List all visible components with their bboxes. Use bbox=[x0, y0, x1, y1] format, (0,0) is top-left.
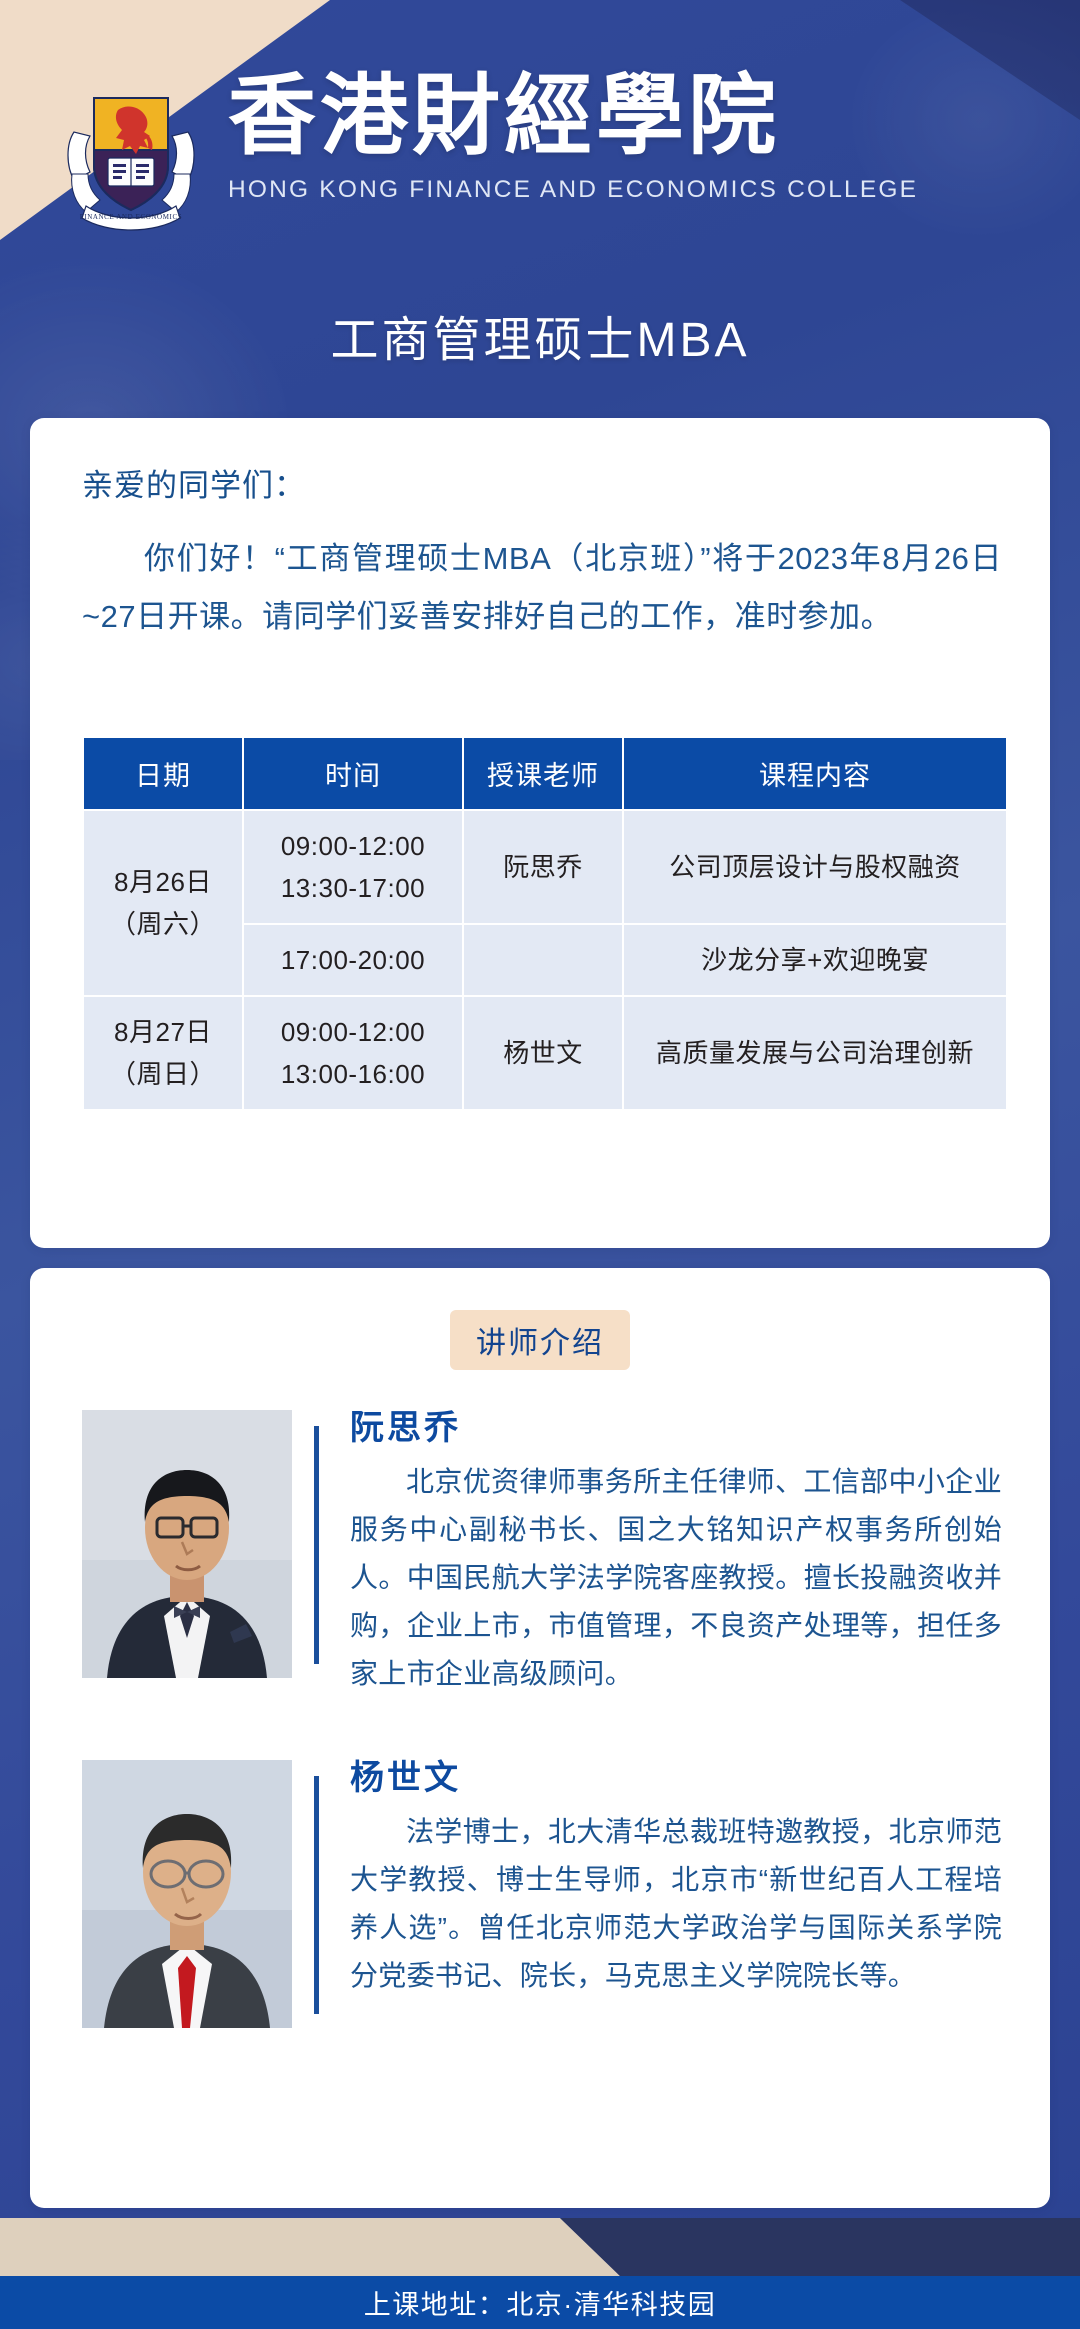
avatar bbox=[82, 1410, 292, 1678]
teacher-bio: 北京优资律师事务所主任律师、工信部中小企业服务中心副秘书长、国之大铭知识产权事务… bbox=[350, 1458, 1002, 1698]
salutation: 亲爱的同学们： bbox=[82, 460, 306, 505]
schedule-col-content: 课程内容 bbox=[624, 738, 1006, 809]
cell-teacher: 杨世文 bbox=[464, 997, 622, 1109]
teacher-entry: 杨世文 法学博士，北大清华总裁班特邀教授，北京师范大学教授、博士生导师，北京市“… bbox=[82, 1746, 1002, 2076]
avatar bbox=[82, 1760, 292, 2028]
teacher-name: 杨世文 bbox=[350, 1750, 461, 1799]
cell-date: 8月27日 （周日） bbox=[84, 997, 242, 1109]
table-row: 8月27日 （周日） 09:00-12:00 13:00-16:00 杨世文 高… bbox=[84, 997, 1006, 1109]
cell-content: 公司顶层设计与股权融资 bbox=[624, 811, 1006, 923]
school-name-cn: 香港財經學院 bbox=[228, 72, 918, 160]
schedule-col-teacher: 授课老师 bbox=[464, 738, 622, 809]
cell-date: 8月26日 （周六） bbox=[84, 811, 242, 995]
cell-time: 17:00-20:00 bbox=[244, 925, 462, 995]
cell-content: 沙龙分享+欢迎晚宴 bbox=[624, 925, 1006, 995]
footer-address-bar: 上课地址：北京·清华科技园 bbox=[0, 2276, 1080, 2329]
table-row: 8月26日 （周六） 09:00-12:00 13:30-17:00 阮思乔 公… bbox=[84, 811, 1006, 923]
teacher-name: 阮思乔 bbox=[350, 1400, 461, 1449]
cell-teacher bbox=[464, 925, 622, 995]
notice-card: 亲爱的同学们： 你们好！“工商管理硕士MBA（北京班）”将于2023年8月26日… bbox=[30, 418, 1050, 1248]
notice-paragraph: 你们好！“工商管理硕士MBA（北京班）”将于2023年8月26日~27日开课。请… bbox=[82, 530, 1002, 646]
school-name-block: 香港財經學院 HONG KONG FINANCE AND ECONOMICS C… bbox=[228, 62, 918, 204]
section-badge-teachers: 讲师介绍 bbox=[450, 1310, 630, 1370]
teachers-card: 讲师介绍 bbox=[30, 1268, 1050, 2208]
schedule-header-row: 日期 时间 授课老师 课程内容 bbox=[84, 738, 1006, 809]
footer-address-text: 上课地址：北京·清华科技园 bbox=[364, 2283, 717, 2322]
poster-root: FINANCE AND ECONOMICS 香港財經學院 HONG KONG F… bbox=[0, 0, 1080, 2329]
school-crest-icon: FINANCE AND ECONOMICS bbox=[56, 62, 206, 232]
cell-time: 09:00-12:00 13:00-16:00 bbox=[244, 997, 462, 1109]
cell-time: 09:00-12:00 13:30-17:00 bbox=[244, 811, 462, 923]
cell-content: 高质量发展与公司治理创新 bbox=[624, 997, 1006, 1109]
logo-row: FINANCE AND ECONOMICS 香港財經學院 HONG KONG F… bbox=[56, 62, 918, 232]
schedule-col-time: 时间 bbox=[244, 738, 462, 809]
teacher-divider bbox=[314, 1426, 319, 1664]
teacher-bio: 法学博士，北大清华总裁班特邀教授，北京师范大学教授、博士生导师，北京市“新世纪百… bbox=[350, 1808, 1002, 2000]
teacher-divider bbox=[314, 1776, 319, 2014]
school-name-en: HONG KONG FINANCE AND ECONOMICS COLLEGE bbox=[228, 176, 918, 204]
schedule-table: 日期 时间 授课老师 课程内容 8月26日 （周六） 09:00-12:00 1… bbox=[82, 736, 1008, 1111]
teacher-entry: 阮思乔 北京优资律师事务所主任律师、工信部中小企业服务中心副秘书长、国之大铭知识… bbox=[82, 1396, 1002, 1726]
poster-header: FINANCE AND ECONOMICS 香港財經學院 HONG KONG F… bbox=[0, 0, 1080, 420]
program-title: 工商管理硕士MBA bbox=[0, 300, 1080, 370]
cell-teacher: 阮思乔 bbox=[464, 811, 622, 923]
schedule-col-date: 日期 bbox=[84, 738, 242, 809]
crest-banner-text: FINANCE AND ECONOMICS bbox=[80, 213, 182, 221]
